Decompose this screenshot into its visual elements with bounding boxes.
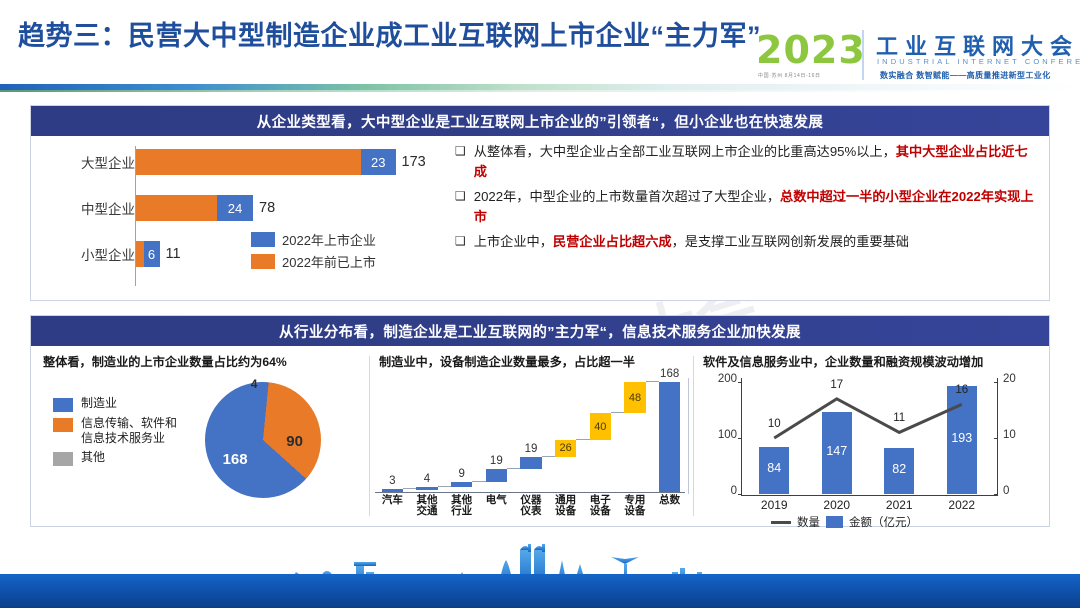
- page-title: 趋势三：民营大中型制造企业成工业互联网上市企业“主力军”: [18, 14, 761, 53]
- bar-category-label: 小型企业: [47, 238, 135, 270]
- legend-swatch: [251, 254, 275, 269]
- waterfall-category-label: 通用设备: [548, 495, 583, 517]
- bar-category-label: 大型企业: [47, 146, 135, 178]
- bar-segment-2022: 6: [144, 241, 160, 267]
- combo-legend-line-swatch: [771, 521, 791, 524]
- waterfall-bar: 26: [555, 440, 576, 457]
- combo-y-tick: 0: [707, 485, 737, 497]
- pie-slice-value: 90: [286, 433, 303, 450]
- pie-legend-label: 信息传输、软件和 信息技术服务业: [81, 416, 177, 446]
- waterfall-bar: [451, 482, 472, 488]
- combo-y2-tickmark: [994, 438, 998, 439]
- combo-right-axis: [997, 378, 998, 496]
- waterfall-bar: [416, 487, 437, 490]
- pie-legend-swatch: [53, 418, 73, 432]
- chart-software-finance-combo: 软件及信息服务业中，企业数量和融资规模波动增加 8414782193 10171…: [697, 352, 1045, 522]
- chart-industry-share-pie: 整体看，制造业的上市企业数量占比约为64% 制造业信息传输、软件和 信息技术服务…: [37, 352, 367, 522]
- section-enterprise-type: 从企业类型看，大中型企业是工业互联网上市企业的”引领者“，但小企业也在快速发展 …: [30, 105, 1050, 301]
- waterfall-chart-title: 制造业中，设备制造企业数量最多，占比超一半: [379, 352, 635, 370]
- legend-label: 2022年上市企业: [282, 230, 376, 249]
- bullet-item: ❑从整体看，大中型企业占全部工业互联网上市企业的比重高达95%以上，其中大型企业…: [455, 142, 1039, 183]
- combo-line-value: 10: [756, 418, 792, 430]
- combo-x-label: 2021: [868, 498, 931, 512]
- pie-chart-title: 整体看，制造业的上市企业数量占比约为64%: [43, 352, 287, 370]
- waterfall-category-label: 其他行业: [444, 495, 479, 517]
- bar-row: 中型企业2478: [39, 192, 439, 224]
- bullet-text: 上市企业中，民营企业占比超六成，是支撑工业互联网创新发展的重要基础: [474, 232, 909, 252]
- waterfall-bar: 40: [590, 413, 611, 439]
- pie-legend-swatch: [53, 452, 73, 466]
- combo-y2-tick: 20: [1003, 373, 1016, 385]
- bullet-plain: 2022年，中型企业的上市数量首次超过了大型企业，: [474, 189, 780, 204]
- waterfall-bar: 48: [624, 382, 645, 413]
- slide-header: 趋势三：民营大中型制造企业成工业互联网上市企业“主力军” 2023 中国·苏州 …: [0, 0, 1080, 92]
- combo-plot: 8414782193: [743, 382, 993, 494]
- combo-y2-tickmark: [994, 382, 998, 383]
- combo-line-value: 11: [881, 412, 917, 424]
- pie-legend: 制造业信息传输、软件和 信息技术服务业其他: [53, 396, 177, 470]
- bullet-list: ❑从整体看，大中型企业占全部工业互联网上市企业的比重高达95%以上，其中大型企业…: [449, 140, 1045, 296]
- waterfall-connector: [646, 381, 659, 382]
- waterfall-connector: [403, 488, 416, 489]
- waterfall-connector: [542, 456, 555, 457]
- waterfall-bar: [659, 382, 680, 492]
- waterfall-category-label: 仪器仪表: [514, 495, 549, 517]
- bar-segment-prior: [136, 241, 144, 267]
- combo-legend-bar-label: 金额（亿元）: [849, 514, 918, 530]
- pie-legend-label: 其他: [81, 450, 105, 465]
- waterfall-bar: [520, 457, 541, 469]
- bar-total-label: 173: [396, 149, 426, 175]
- section2-band-label: 从行业分布看，制造企业是工业互联网的”主力军“，信息技术服务企业加快发展: [279, 321, 801, 342]
- bar-segment-prior: [136, 195, 217, 221]
- legend-swatch: [251, 232, 275, 247]
- bullet-plain: ，是支撑工业互联网创新发展的重要基础: [672, 234, 909, 249]
- combo-legend: 数量 金额（亿元）: [771, 514, 918, 530]
- pie-legend-item: 制造业: [53, 396, 177, 412]
- waterfall-value-label: 4: [416, 473, 437, 485]
- divider-2: [693, 356, 694, 516]
- combo-legend-line-label: 数量: [797, 514, 820, 530]
- combo-y-tickmark: [738, 438, 742, 439]
- combo-x-axis: [741, 495, 998, 496]
- legend-item: 2022年前已上市: [251, 252, 376, 271]
- combo-x-label: 2019: [743, 498, 806, 512]
- waterfall-right-border: [688, 378, 689, 494]
- header-gradient-rule-secondary: [0, 90, 1080, 92]
- waterfall-value-label: 9: [451, 468, 472, 480]
- combo-line-series: [743, 382, 993, 494]
- waterfall-connector: [507, 468, 520, 469]
- bullet-plain: 从整体看，大中型企业占全部工业互联网上市企业的比重高达95%以上，: [474, 144, 896, 159]
- bar-segment-2022: 23: [361, 149, 396, 175]
- combo-line-value: 16: [944, 384, 980, 396]
- waterfall-plot: 3491919264048168: [375, 382, 687, 492]
- bar-total-label: 11: [160, 241, 181, 267]
- waterfall-connector: [576, 439, 589, 440]
- combo-x-label: 2022: [931, 498, 994, 512]
- bar-row: 小型企业611: [39, 238, 439, 270]
- legend-item: 2022年上市企业: [251, 230, 376, 249]
- waterfall-category-label: 专用设备: [618, 495, 653, 517]
- pie-legend-label: 制造业: [81, 396, 117, 411]
- combo-y-tick: 200: [707, 373, 737, 385]
- section1-band: 从企业类型看，大中型企业是工业互联网上市企业的”引领者“，但小企业也在快速发展: [31, 106, 1049, 136]
- logo-year-subtitle: 中国·苏州 8月14日-16日: [758, 72, 821, 79]
- waterfall-value-label: 19: [520, 443, 541, 455]
- bullet-marker-icon: ❑: [455, 142, 466, 183]
- divider-1: [369, 356, 370, 516]
- bullet-item: ❑上市企业中，民营企业占比超六成，是支撑工业互联网创新发展的重要基础: [455, 232, 1039, 252]
- logo-name-en: INDUSTRIAL INTERNET CONFERENCE: [877, 57, 1080, 66]
- bullet-text: 2022年，中型企业的上市数量首次超过了大型企业，总数中超过一半的小型企业在20…: [474, 187, 1039, 228]
- combo-y-tickmark: [738, 494, 742, 495]
- waterfall-connector: [472, 481, 485, 482]
- bullet-plain: 上市企业中，: [474, 234, 553, 249]
- combo-legend-bar-swatch: [826, 516, 843, 528]
- logo-divider: [862, 30, 864, 80]
- bar-segment-2022: 24: [217, 195, 253, 221]
- waterfall-value-label: 3: [382, 475, 403, 487]
- bar-total-label: 78: [253, 195, 275, 221]
- pie-slice-value: 168: [223, 451, 248, 468]
- slide-root: 趋势三：民营大中型制造企业成工业互联网上市企业“主力军” 2023 中国·苏州 …: [0, 0, 1080, 608]
- bullet-marker-icon: ❑: [455, 187, 466, 228]
- bar-segment-prior: [136, 149, 361, 175]
- pie-legend-item: 信息传输、软件和 信息技术服务业: [53, 416, 177, 446]
- waterfall-category-label: 汽车: [375, 495, 410, 517]
- combo-y-tickmark: [738, 382, 742, 383]
- bar-category-label: 中型企业: [47, 192, 135, 224]
- pie-legend-item: 其他: [53, 450, 177, 466]
- logo-tagline: 数实融合 数智赋能——高质量推进新型工业化: [880, 70, 1051, 81]
- legend-label: 2022年前已上市: [282, 252, 376, 271]
- chart1-legend: 2022年上市企业2022年前已上市: [251, 230, 376, 274]
- slide-footer: [0, 542, 1080, 608]
- waterfall-value-label: 168: [659, 368, 680, 380]
- logo-year: 2023: [756, 28, 866, 72]
- bar-row: 大型企业23173: [39, 146, 439, 178]
- combo-left-axis: [741, 378, 742, 496]
- section2-band: 从行业分布看，制造企业是工业互联网的”主力军“，信息技术服务企业加快发展: [31, 316, 1049, 346]
- combo-y-tick: 100: [707, 429, 737, 441]
- combo-y2-tick: 0: [1003, 485, 1009, 497]
- chart-manufacturing-waterfall: 制造业中，设备制造企业数量最多，占比超一半 3491919264048168 汽…: [373, 352, 691, 522]
- bullet-text: 从整体看，大中型企业占全部工业互联网上市企业的比重高达95%以上，其中大型企业占…: [474, 142, 1039, 183]
- chart-enterprise-size-bar: 大型企业23173中型企业2478小型企业611 2022年上市企业2022年前…: [39, 142, 439, 294]
- combo-line-value: 17: [819, 379, 855, 391]
- combo-chart-title: 软件及信息服务业中，企业数量和融资规模波动增加: [703, 352, 983, 370]
- waterfall-category-label: 电子设备: [583, 495, 618, 517]
- waterfall-connector: [611, 412, 624, 413]
- waterfall-category-label: 其他交通: [410, 495, 445, 517]
- waterfall-bar: [486, 469, 507, 481]
- combo-y2-tickmark: [994, 494, 998, 495]
- section1-band-label: 从企业类型看，大中型企业是工业互联网上市企业的”引领者“，但小企业也在快速发展: [257, 111, 824, 132]
- waterfall-value-label: 19: [486, 455, 507, 467]
- pie-graphic: [205, 382, 321, 498]
- pie-legend-swatch: [53, 398, 73, 412]
- waterfall-connector: [438, 486, 451, 487]
- section-industry-distribution: 从行业分布看，制造企业是工业互联网的”主力军“，信息技术服务企业加快发展 整体看…: [30, 315, 1050, 527]
- waterfall-axis: [375, 492, 685, 493]
- waterfall-category-label: 电气: [479, 495, 514, 517]
- bullet-item: ❑2022年，中型企业的上市数量首次超过了大型企业，总数中超过一半的小型企业在2…: [455, 187, 1039, 228]
- waterfall-category-label: 总数: [652, 495, 687, 517]
- conference-logo: 2023 中国·苏州 8月14日-16日 工业互联网大会 INDUSTRIAL …: [754, 26, 1072, 86]
- combo-x-label: 2020: [806, 498, 869, 512]
- combo-y2-tick: 10: [1003, 429, 1016, 441]
- waterfall-categories: 汽车其他交通其他行业电气仪器仪表通用设备电子设备专用设备总数: [375, 495, 687, 517]
- bullet-highlight: 民营企业占比超六成: [553, 234, 672, 249]
- footer-wave: [0, 574, 1080, 608]
- bullet-marker-icon: ❑: [455, 232, 466, 252]
- pie-slice-value: 4: [251, 377, 258, 391]
